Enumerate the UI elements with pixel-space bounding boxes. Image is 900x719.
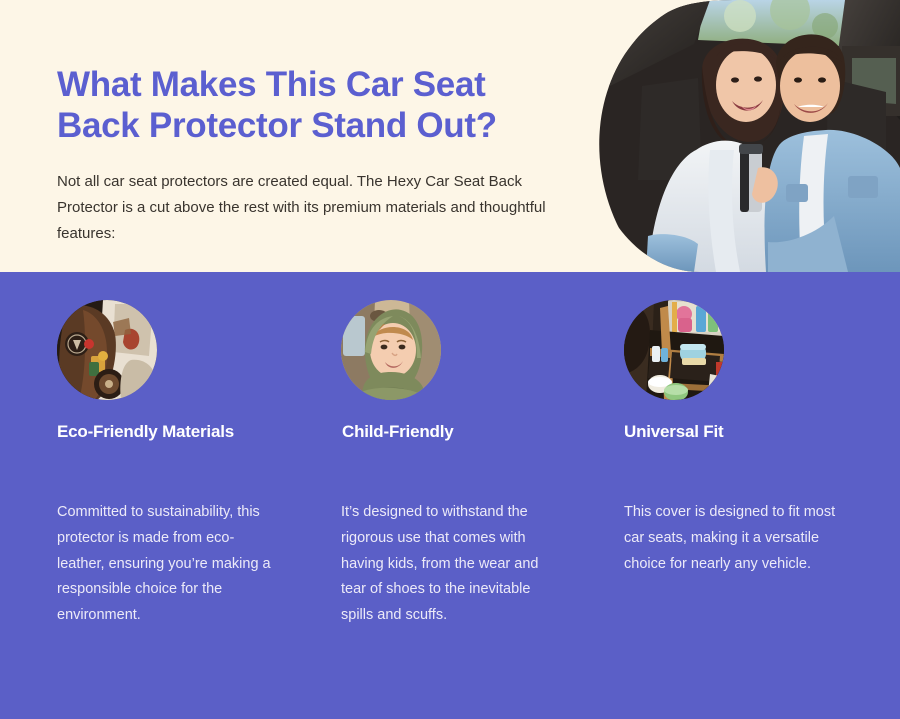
feature-body-universal-fit: This cover is designed to fit most car s… [624,500,839,577]
page-title-line-2: Back Protector Stand Out? [57,106,587,147]
page-title-line-1: What Makes This Car Seat [57,65,486,104]
feature-image-child-friendly [341,300,441,400]
feature-body-child-friendly: It’s designed to withstand the rigorous … [341,500,556,629]
page-title: What Makes This Car Seat Back Protector … [57,65,587,146]
child-portrait-illustration [341,300,441,400]
feature-title-child-friendly: Child-Friendly [342,422,453,442]
infographic-page: What Makes This Car Seat Back Protector … [0,0,900,719]
seat-organizer-pockets-illustration [624,300,724,400]
hero-illustration [590,0,900,272]
header-section: What Makes This Car Seat Back Protector … [0,0,900,272]
feature-title-universal-fit: Universal Fit [624,422,723,442]
feature-body-eco-friendly-materials: Committed to sustainability, this protec… [57,500,279,629]
feature-title-eco-friendly-materials: Eco-Friendly Materials [57,422,234,442]
leather-organizer-illustration [57,300,157,400]
feature-image-universal-fit [624,300,724,400]
features-section: Eco-Friendly Materials Committed to sust… [0,272,900,719]
hero-image [590,0,900,272]
feature-image-eco-friendly-materials [57,300,157,400]
intro-paragraph: Not all car seat protectors are created … [57,169,557,246]
